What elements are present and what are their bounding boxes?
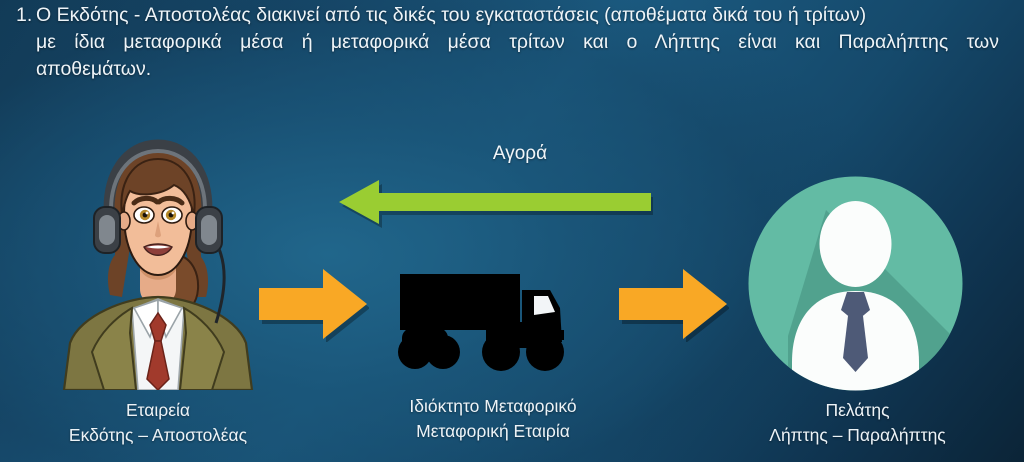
caption-customer: Πελάτης Λήπτης – Παραλήπτης <box>735 398 980 448</box>
headset-agent-illustration <box>58 137 258 390</box>
caption-transport-line-1: Ιδιόκτητο Μεταφορικό <box>368 394 618 419</box>
heading-text: Ο Εκδότης - Αποστολέας διακινεί από τις … <box>36 2 1016 83</box>
heading-line-2: με ίδια μεταφορικά μέσα ή μεταφορικά μέσ… <box>36 29 999 56</box>
goods-arrow-left-orange <box>257 266 369 342</box>
caption-company-line-2: Εκδότης – Αποστολέας <box>36 423 280 448</box>
caption-customer-line-1: Πελάτης <box>735 398 980 423</box>
customer-avatar-icon <box>748 176 963 391</box>
heading-line-1: Ο Εκδότης - Αποστολέας διακινεί από τις … <box>36 2 1016 29</box>
slide-canvas: 1.Ο Εκδότης - Αποστολέας διακινεί από τι… <box>0 0 1024 462</box>
list-number: 1. <box>10 2 36 29</box>
heading-line-3: αποθεμάτων. <box>36 56 1016 83</box>
caption-company-line-1: Εταιρεία <box>36 398 280 423</box>
buy-arrow-label: Αγορά <box>400 143 640 165</box>
caption-transport: Ιδιόκτητο Μεταφορικό Μεταφορική Εταιρία <box>368 394 618 444</box>
caption-transport-line-2: Μεταφορική Εταιρία <box>368 419 618 444</box>
truck-icon <box>390 262 592 374</box>
goods-arrow-right-orange <box>617 266 729 342</box>
buy-arrow-green <box>335 176 653 228</box>
heading-paragraph: 1.Ο Εκδότης - Αποστολέας διακινεί από τι… <box>0 2 1024 83</box>
caption-customer-line-2: Λήπτης – Παραλήπτης <box>735 423 980 448</box>
caption-company: Εταιρεία Εκδότης – Αποστολέας <box>36 398 280 448</box>
